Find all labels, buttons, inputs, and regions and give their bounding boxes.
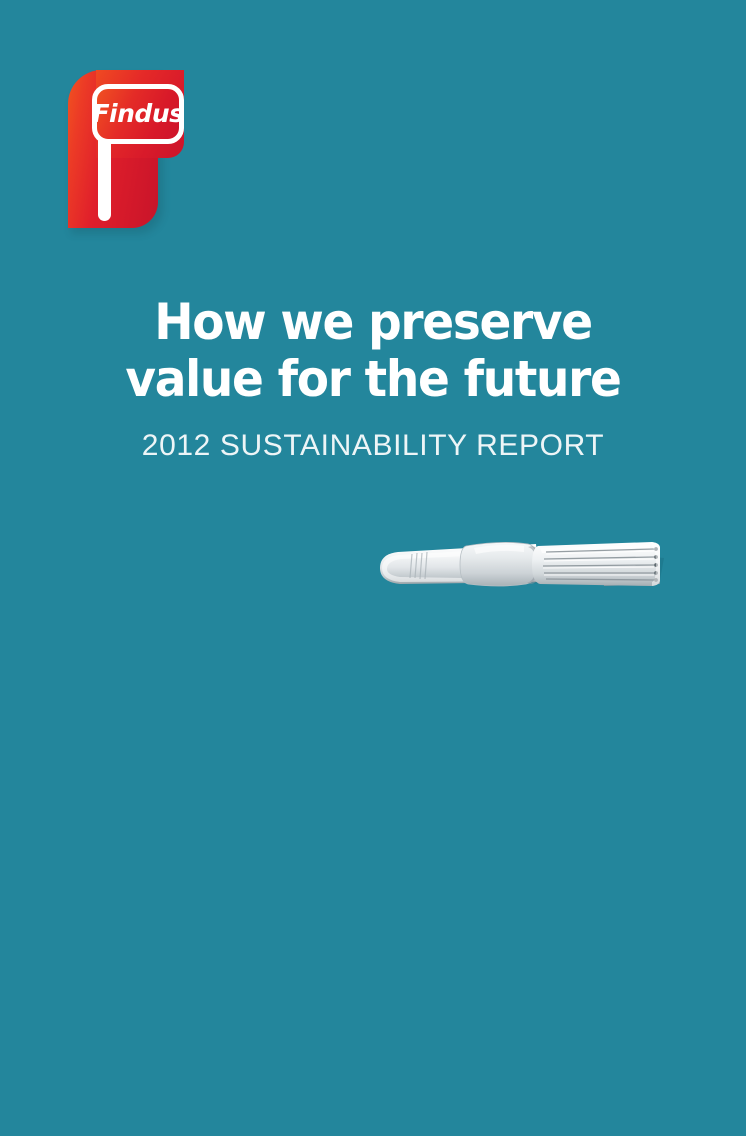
page-title: How we preserve value for the future [22,294,723,408]
page-title-line-2: value for the future [22,351,723,408]
fork-head [532,542,660,586]
page-subtitle: 2012 SUSTAINABILITY REPORT [0,428,746,464]
logo-wordmark-pill: Findus [92,84,184,144]
fork-neck [460,542,542,586]
page-title-line-1: How we preserve [22,294,723,351]
logo-wordmark-text: Findus [97,89,179,139]
fork-illustration [368,524,668,610]
findus-logo: Findus [68,70,184,228]
fork-svg [368,524,668,610]
report-cover-page: { "page": { "background_color": "#23869c… [0,0,746,1136]
